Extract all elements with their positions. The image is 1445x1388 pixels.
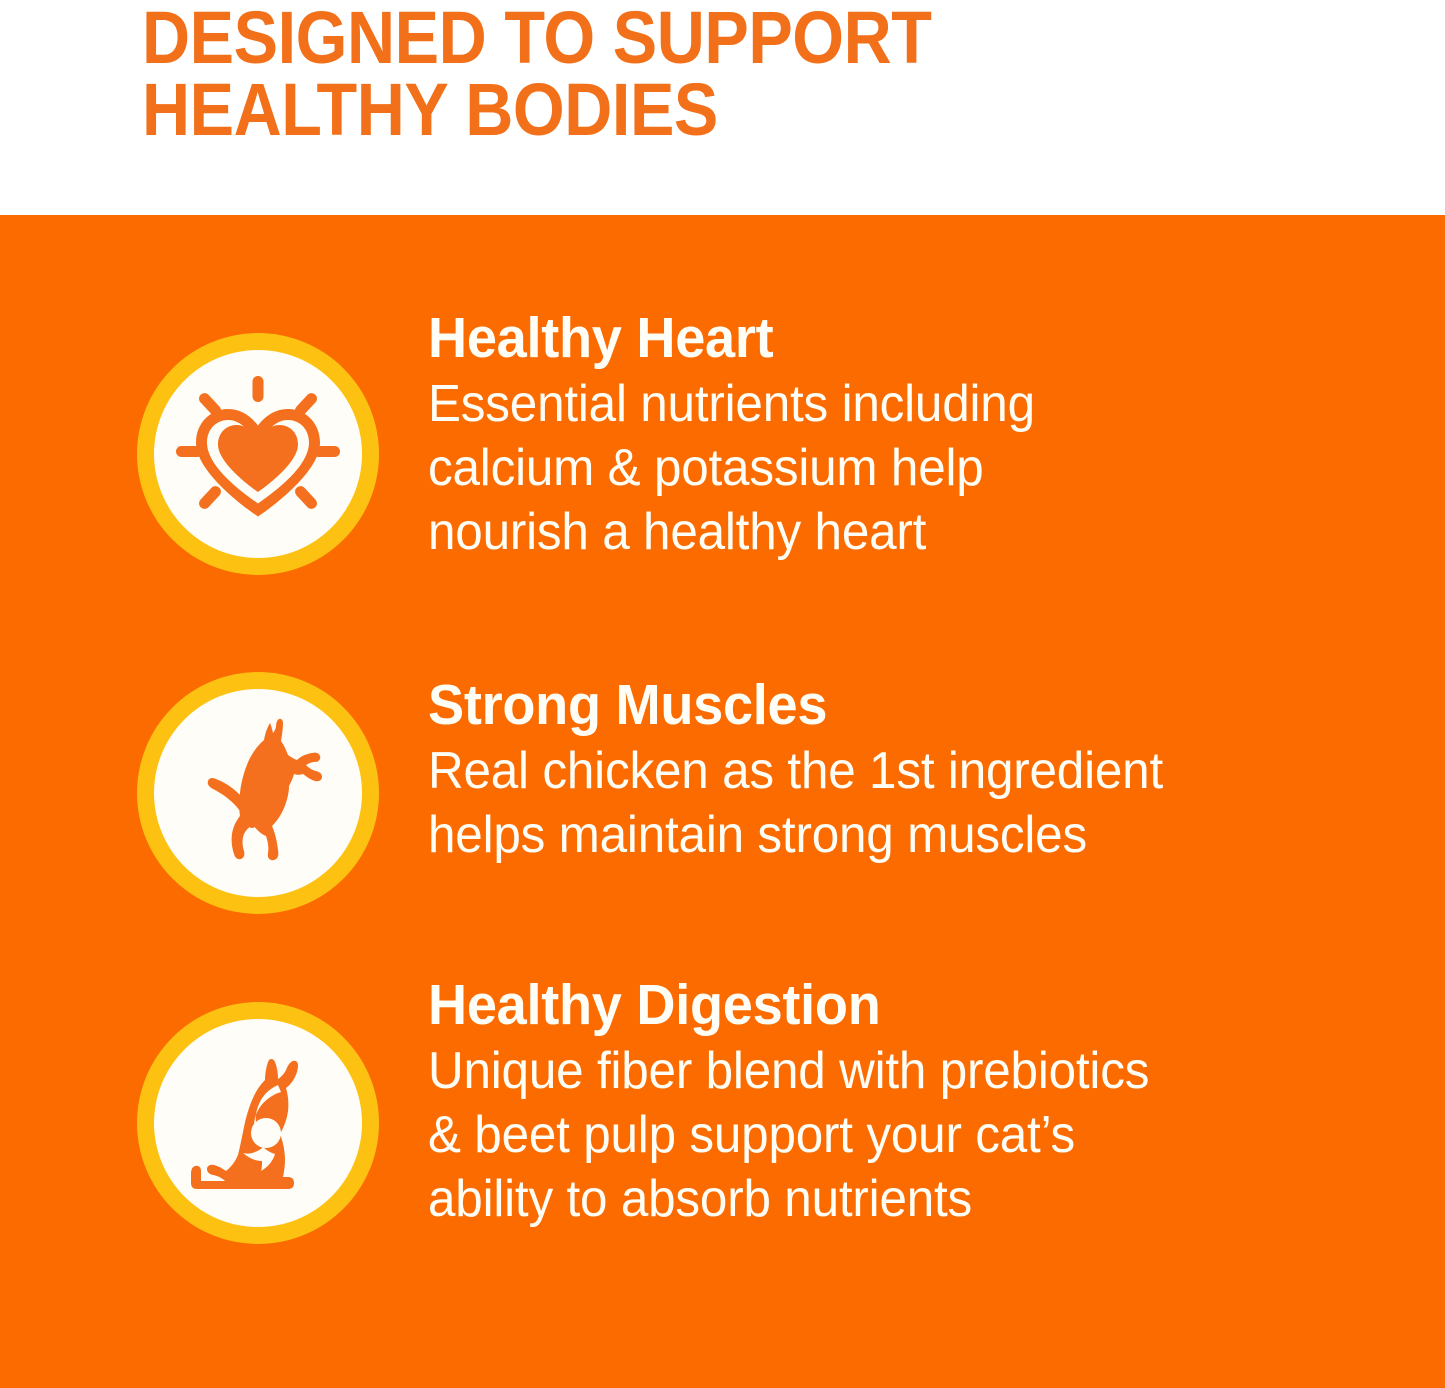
header-band: DESIGNED TO SUPPORT HEALTHY BODIES [0, 0, 1445, 215]
benefit-heading: Healthy Heart [428, 310, 1359, 367]
benefit-text-block: Strong Muscles Real chicken as the 1st i… [428, 677, 1408, 868]
benefit-description: Unique fiber blend with prebiotics & bee… [428, 1040, 1359, 1232]
sitting-cat-digestion-icon [154, 1019, 362, 1227]
benefit-heading: Strong Muscles [428, 677, 1359, 734]
benefit-icon-badge [137, 1002, 379, 1244]
leaping-cat-icon [154, 689, 362, 897]
benefit-description: Essential nutrients including calcium & … [428, 373, 1359, 565]
benefit-heading: Healthy Digestion [428, 977, 1359, 1034]
benefit-icon-badge [137, 672, 379, 914]
benefit-text-block: Healthy Heart Essential nutrients includ… [428, 310, 1408, 565]
product-benefits-infographic: DESIGNED TO SUPPORT HEALTHY BODIES [0, 0, 1445, 1388]
benefit-text-block: Healthy Digestion Unique fiber blend wit… [428, 977, 1408, 1232]
benefit-description: Real chicken as the 1st ingredient helps… [428, 740, 1359, 868]
page-title: DESIGNED TO SUPPORT HEALTHY BODIES [142, 2, 1123, 146]
radiant-heart-icon [154, 350, 362, 558]
benefit-icon-badge [137, 333, 379, 575]
